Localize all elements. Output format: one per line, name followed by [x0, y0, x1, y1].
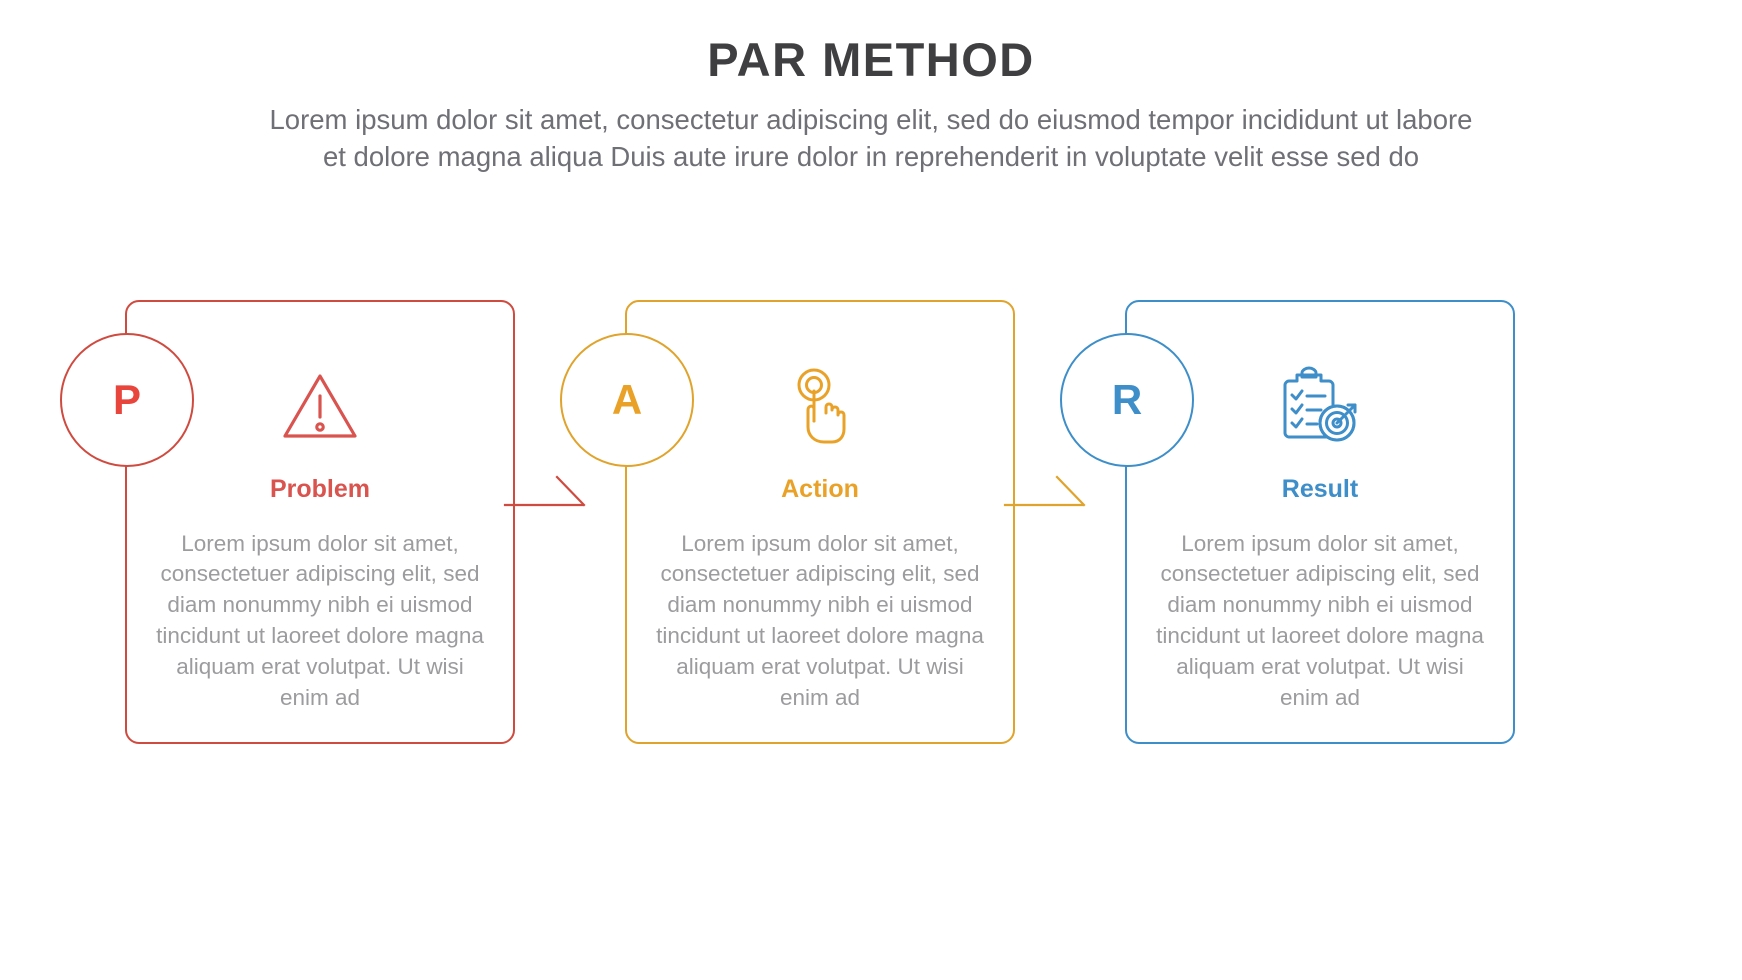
card-content-action: Action Lorem ipsum dolor sit amet, conse…: [650, 300, 990, 713]
badge-letter-result: R: [1112, 379, 1142, 421]
infographic-page: PAR METHOD Lorem ipsum dolor sit amet, c…: [0, 0, 1742, 980]
badge-result[interactable]: R: [1060, 333, 1194, 467]
card-title-problem: Problem: [150, 476, 490, 504]
card-title-action: Action: [650, 476, 990, 504]
card-title-result: Result: [1150, 476, 1490, 504]
card-description-action: Lorem ipsum dolor sit amet, consectetuer…: [650, 529, 990, 714]
badge-letter-action: A: [612, 379, 642, 421]
arrow-problem-to-action: [505, 470, 595, 520]
card-description-problem: Lorem ipsum dolor sit amet, consectetuer…: [150, 529, 490, 714]
card-content-problem: Problem Lorem ipsum dolor sit amet, cons…: [150, 300, 490, 713]
tap-hand-icon: [650, 360, 990, 452]
subtitle-line-2: et dolore magna aliqua Duis aute irure d…: [71, 138, 1671, 175]
badge-problem[interactable]: P: [60, 333, 194, 467]
card-content-result: Result Lorem ipsum dolor sit amet, conse…: [1150, 300, 1490, 713]
header: PAR METHOD Lorem ipsum dolor sit amet, c…: [0, 34, 1742, 175]
clipboard-target-icon: [1150, 360, 1490, 452]
subtitle-line-1: Lorem ipsum dolor sit amet, consectetur …: [71, 101, 1671, 138]
card-description-result: Lorem ipsum dolor sit amet, consectetuer…: [1150, 529, 1490, 714]
badge-letter-problem: P: [113, 379, 141, 421]
warning-triangle-icon: [150, 360, 490, 452]
page-title: PAR METHOD: [0, 34, 1742, 87]
page-subtitle: Lorem ipsum dolor sit amet, consectetur …: [71, 101, 1671, 175]
badge-action[interactable]: A: [560, 333, 694, 467]
arrow-action-to-result: [1005, 470, 1095, 520]
